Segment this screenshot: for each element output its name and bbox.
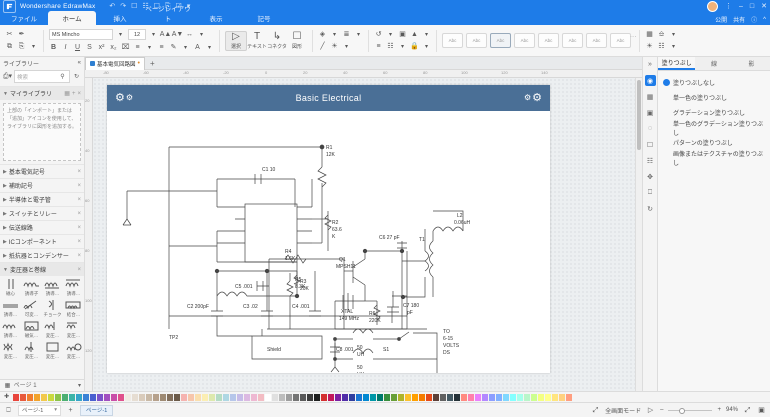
color-swatch[interactable]	[132, 394, 138, 401]
crop2-dropdown-icon[interactable]: ▾	[669, 30, 678, 39]
tool-connector[interactable]: ↳ コネクタ	[267, 32, 287, 50]
clear-format-icon[interactable]: ⌧	[121, 43, 130, 52]
page-icon[interactable]: ☐	[645, 139, 656, 150]
shape-item[interactable]: チョーク	[42, 298, 63, 318]
color-swatch[interactable]	[342, 394, 348, 401]
quick-style-7[interactable]: Abc	[586, 33, 607, 48]
label-t1: T1	[419, 237, 425, 243]
shape-format-group: ◈ ▾ ≣ ▾ ╱ ☀ ▾	[315, 25, 366, 56]
scrollbar-thumb[interactable]	[637, 80, 641, 150]
color-swatch[interactable]	[489, 394, 495, 401]
shape-item[interactable]: 変圧…	[21, 340, 42, 360]
color-swatch[interactable]	[454, 394, 460, 401]
font-color-icon[interactable]: A	[193, 43, 202, 52]
close-icon[interactable]: ×	[77, 169, 81, 175]
tab-file[interactable]: ファイル	[0, 13, 48, 25]
paste-dropdown-icon[interactable]: ▾	[29, 42, 38, 51]
shadow-dropdown-icon[interactable]: ▾	[342, 42, 351, 51]
shape-item[interactable]: 誘導…	[42, 277, 63, 297]
color-swatch[interactable]	[125, 394, 131, 401]
color-swatch[interactable]	[139, 394, 145, 401]
tab-shadow[interactable]: 影	[733, 57, 770, 70]
group-dropdown-icon[interactable]: ▾	[398, 42, 407, 51]
label-r1: R1	[326, 145, 333, 151]
flip-icon[interactable]: ▲	[410, 30, 419, 39]
shape-item[interactable]: 誘導子	[21, 277, 42, 297]
menu-more-icon[interactable]: ⋮	[725, 3, 732, 10]
label-r1-value: 12K	[326, 152, 336, 158]
zoom-slider-knob[interactable]	[679, 408, 685, 414]
color-swatch[interactable]	[475, 394, 481, 401]
color-swatch[interactable]	[188, 394, 194, 401]
label-coil2: 50	[357, 365, 363, 371]
zoom-level-label: 94%	[726, 407, 738, 413]
presentation-icon[interactable]: ⎕	[645, 187, 656, 198]
color-swatch[interactable]	[377, 394, 383, 401]
color-swatch[interactable]	[384, 394, 390, 401]
tab-view[interactable]: 表示	[192, 13, 240, 25]
layout-view-icon[interactable]: ▣	[757, 406, 766, 415]
label-r6: R6	[369, 311, 376, 317]
superscript-icon[interactable]: x²	[97, 43, 106, 52]
italic-icon[interactable]: I	[61, 43, 70, 52]
page-tab[interactable]: ページ-1	[80, 405, 113, 416]
color-swatch[interactable]	[370, 394, 376, 401]
close-icon[interactable]: ×	[77, 91, 81, 97]
page-view-icon[interactable]: ⎕	[4, 406, 13, 415]
color-swatch[interactable]	[34, 394, 40, 401]
fit-page-icon[interactable]: ⤢	[591, 406, 600, 415]
font-size-dropdown-icon[interactable]: ▾	[149, 30, 158, 39]
color-swatch[interactable]	[41, 394, 47, 401]
library-category-my-library[interactable]: ▼ マイライブラリ ▦ + ×	[0, 86, 84, 100]
color-swatch[interactable]	[27, 394, 33, 401]
color-swatch[interactable]	[349, 394, 355, 401]
variable-inductor-icon	[23, 298, 41, 312]
chevron-right-icon: ▶	[3, 183, 7, 189]
tool-select[interactable]: ▷ 選択	[225, 31, 247, 51]
arrange-group: ↺ ▾ ▣ ▲ ▾ ≡ ☷ ▾ 🔒 ▾	[371, 25, 434, 56]
shape-label: 誘導…	[4, 333, 18, 339]
library-category-semiconductor[interactable]: ▶ 半導体と電子管 ×	[0, 192, 84, 206]
shape-item[interactable]: 誘導…	[0, 298, 21, 318]
unsaved-indicator: •	[138, 60, 140, 67]
undo-icon[interactable]: ↶	[109, 3, 115, 10]
tool-text[interactable]: T テキスト	[247, 32, 267, 50]
refresh-icon[interactable]: ↻	[72, 72, 81, 81]
color-swatch[interactable]	[202, 394, 208, 401]
redo-icon[interactable]: ↷	[120, 3, 126, 10]
color-swatch[interactable]	[251, 394, 257, 401]
quick-style-3[interactable]: Abc	[490, 33, 511, 48]
color-swatch[interactable]	[405, 394, 411, 401]
fill-option-image-texture[interactable]: 画像またはテクスチャの塗りつぶし	[661, 150, 767, 165]
shape-label: 変圧…	[67, 354, 81, 360]
color-swatch[interactable]	[153, 394, 159, 401]
lock-icon[interactable]: 🔒	[410, 42, 419, 51]
paste-icon[interactable]: ⎘	[17, 42, 26, 51]
color-swatch[interactable]	[160, 394, 166, 401]
line-style-dropdown-icon[interactable]: ▾	[354, 30, 363, 39]
zoom-slider[interactable]	[668, 410, 712, 411]
color-swatch[interactable]	[13, 394, 19, 401]
fill-option-none[interactable]: 塗りつぶしなし	[661, 75, 767, 90]
color-swatch[interactable]	[90, 394, 96, 401]
tab-line[interactable]: 線	[695, 57, 732, 70]
add-icon[interactable]: +	[72, 91, 76, 97]
tool-text-label: テキスト	[247, 43, 267, 50]
line-style-icon[interactable]: ≣	[342, 30, 351, 39]
color-swatch[interactable]	[230, 394, 236, 401]
crop2-icon[interactable]: ⎒	[657, 30, 666, 39]
highlight-icon[interactable]: ✎	[169, 43, 178, 52]
theme-icon[interactable]: ▦	[645, 30, 654, 39]
inductor3-icon	[65, 277, 83, 291]
color-swatch[interactable]	[391, 394, 397, 401]
diagram-banner[interactable]: ⚙⚙ Basic Electrical ⚙⚙	[107, 85, 550, 111]
color-swatch[interactable]	[293, 394, 299, 401]
library-category-transformer-winding[interactable]: ▼ 変圧器と巻線 ×	[0, 262, 84, 276]
quick-styles-group: Abc Abc Abc Abc Abc Abc Abc Abc ⋮	[439, 25, 637, 56]
category-label: 伝送線路	[9, 223, 33, 232]
grow-font-icon[interactable]: A▲	[161, 30, 170, 39]
category-label: ICコンポーネント	[9, 237, 57, 246]
shape-item[interactable]: 変圧…	[63, 319, 84, 339]
quick-style-2[interactable]: Abc	[466, 33, 487, 48]
color-swatch[interactable]	[482, 394, 488, 401]
label-c4: C4 .001	[292, 304, 310, 310]
label-c8: C8 .001	[336, 347, 354, 353]
fill-option-label: グラデーション塗りつぶし	[673, 108, 745, 117]
import-icon[interactable]: ⎙▾	[3, 72, 12, 81]
transformer3-icon	[2, 340, 20, 354]
color-swatch[interactable]	[174, 394, 180, 401]
quick-style-5[interactable]: Abc	[538, 33, 559, 48]
quick-style-8[interactable]: Abc	[610, 33, 631, 48]
color-swatch[interactable]	[286, 394, 292, 401]
font-color-dropdown-icon[interactable]: ▾	[205, 43, 214, 52]
vertical-ruler[interactable]: 2040 6080 100120	[85, 78, 93, 391]
color-swatch[interactable]	[69, 394, 75, 401]
zoom-in-button[interactable]: +	[717, 407, 721, 413]
color-swatch[interactable]	[272, 394, 278, 401]
grid-view-icon[interactable]: ▦	[64, 90, 70, 97]
library-category-basic-electrical[interactable]: ▶ 基本電気記号 ×	[0, 164, 84, 178]
group-icon[interactable]: ☷	[386, 42, 395, 51]
shuffle-icon[interactable]: ✥	[645, 171, 656, 182]
shape-item[interactable]: 磁気…	[21, 319, 42, 339]
close-icon[interactable]: ×	[77, 197, 81, 203]
collapse-left-icon[interactable]: «	[78, 60, 81, 66]
history-icon[interactable]: ↻	[645, 203, 656, 214]
fill-options-list: 塗りつぶしなし 単一色の塗りつぶし グラデーション塗りつぶし 単一色のグラデーシ…	[658, 71, 770, 169]
add-page-icon[interactable]: +	[66, 406, 75, 415]
color-swatch[interactable]	[496, 394, 502, 401]
library-category-switch-relay[interactable]: ▶ スイッチとリレー ×	[0, 206, 84, 220]
color-swatch[interactable]	[20, 394, 26, 401]
styles-more-icon[interactable]: ⋮	[631, 33, 634, 49]
color-swatch[interactable]	[216, 394, 222, 401]
shape-label: 可変…	[25, 312, 39, 318]
tab-symbols[interactable]: 記号	[240, 13, 288, 25]
align-objects-icon[interactable]: ≡	[374, 42, 383, 51]
fill-option-mono-gradient[interactable]: 単一色のグラデーション塗りつぶし	[661, 120, 767, 135]
char-spacing-icon[interactable]: ↔	[185, 30, 194, 39]
symbols-icon[interactable]: ▦	[645, 91, 656, 102]
present-icon[interactable]: ▷	[646, 406, 655, 415]
footer-more-icon[interactable]: ▾	[78, 382, 81, 389]
color-swatch[interactable]	[566, 394, 572, 401]
color-swatch[interactable]	[356, 394, 362, 401]
color-swatch[interactable]	[111, 394, 117, 401]
color-swatch[interactable]	[237, 394, 243, 401]
choke-icon	[46, 298, 60, 312]
quick-style-6[interactable]: Abc	[562, 33, 583, 48]
color-swatch[interactable]	[223, 394, 229, 401]
color-swatch[interactable]	[279, 394, 285, 401]
fullscreen-mode-label[interactable]: 全画面モード	[605, 406, 641, 415]
color-swatch[interactable]	[258, 394, 264, 401]
pages-icon[interactable]: ▦	[3, 382, 12, 391]
color-swatch[interactable]	[321, 394, 327, 401]
format-painter-icon[interactable]: ✒	[17, 30, 26, 39]
color-swatch[interactable]	[510, 394, 516, 401]
crop-icon[interactable]: ▣	[398, 30, 407, 39]
shape-item[interactable]: 変圧…	[42, 340, 63, 360]
collapse-ribbon-icon[interactable]: ^	[763, 17, 766, 23]
zoom-out-button[interactable]: –	[660, 407, 663, 413]
library-category-ic-component[interactable]: ▶ ICコンポーネント ×	[0, 234, 84, 248]
category-label: 補助記号	[9, 181, 33, 190]
properties-panel: 塗りつぶし 線 影 塗りつぶしなし 単一色の塗りつぶし グラデーション塗りつぶし…	[657, 57, 770, 391]
label-c7: C7 180	[403, 303, 419, 309]
quick-style-4[interactable]: Abc	[514, 33, 535, 48]
shape-item[interactable]: 変圧…	[63, 340, 84, 360]
canvas-scrollbar[interactable]	[635, 78, 642, 391]
horizontal-ruler[interactable]: -80-60 -40-20 020 4060 80100 120140	[85, 70, 642, 78]
circuit-schematic[interactable]: C1 10 R1 12K R2 63.6 K R3 20K C2 200pF C…	[107, 111, 550, 373]
connector-tool-icon: ↳	[273, 32, 281, 42]
shape-item[interactable]: 誘導…	[0, 319, 21, 339]
library-category-transmission[interactable]: ▶ 伝送線路 ×	[0, 220, 84, 234]
color-swatch[interactable]	[146, 394, 152, 401]
label-ds: DS	[443, 350, 451, 356]
expand-panel-icon[interactable]: »	[645, 59, 656, 70]
color-swatch[interactable]	[531, 394, 537, 401]
color-swatch[interactable]	[426, 394, 432, 401]
color-swatch[interactable]	[265, 394, 271, 401]
color-palette: ✚	[0, 391, 770, 402]
help-icon[interactable]: ⓘ	[751, 15, 757, 24]
transformer-icon	[44, 319, 62, 333]
shape-item[interactable]: 結合…	[63, 298, 84, 318]
color-swatch[interactable]	[244, 394, 250, 401]
shape-item[interactable]: 磁心	[0, 277, 21, 297]
fill-option-label: 単一色のグラデーション塗りつぶし	[673, 119, 767, 137]
color-swatch[interactable]	[447, 394, 453, 401]
search-icon[interactable]: ⚲	[58, 72, 67, 81]
layout-dropdown-icon[interactable]: ▾	[669, 42, 678, 51]
layers-icon[interactable]: ☷	[645, 155, 656, 166]
color-swatch[interactable]	[524, 394, 530, 401]
color-swatch[interactable]	[118, 394, 124, 401]
underline-icon[interactable]: U	[73, 43, 82, 52]
menu-tab-bar: ファイル ホーム 挿入 ページレイアウト 表示 記号 公開 共有 ⓘ ^	[0, 13, 770, 25]
divider	[312, 30, 313, 52]
layout-icon[interactable]: ☷	[657, 42, 666, 51]
color-swatch[interactable]	[83, 394, 89, 401]
tab-page-layout[interactable]: ページレイアウト	[144, 3, 192, 25]
main-area: ライブラリー « ⎙▾ 検索 ⚲ ↻ ▼ マイライブラリ ▦ + × 上部の「イ…	[0, 57, 770, 391]
bullet-dropdown-icon[interactable]: ▾	[145, 43, 154, 52]
lock-dropdown-icon[interactable]: ▾	[422, 42, 431, 51]
color-swatch[interactable]	[545, 394, 551, 401]
color-swatch[interactable]	[468, 394, 474, 401]
color-swatch[interactable]	[552, 394, 558, 401]
color-swatch[interactable]	[398, 394, 404, 401]
new-icon[interactable]: ☐	[131, 3, 137, 10]
bullet-list-icon[interactable]: ≡	[133, 43, 142, 52]
label-r4: R4	[285, 249, 292, 255]
tab-fill[interactable]: 塗りつぶし	[658, 57, 695, 70]
fill-dropdown-icon[interactable]: ▾	[330, 30, 339, 39]
library-search-row: ⎙▾ 検索 ⚲ ↻	[3, 70, 81, 83]
publish-button[interactable]: 公開	[715, 15, 727, 24]
fill-option-label: 単一色の塗りつぶし	[673, 93, 727, 102]
quick-style-1[interactable]: Abc	[442, 33, 463, 48]
close-icon[interactable]: ×	[77, 211, 81, 217]
inductor-icon	[23, 277, 41, 291]
color-swatch[interactable]	[209, 394, 215, 401]
theme-icon[interactable]: ◌	[645, 123, 656, 134]
bold-icon[interactable]: B	[49, 43, 58, 52]
tab-home[interactable]: ホーム	[48, 11, 96, 25]
shape-item[interactable]: 変圧…	[42, 319, 63, 339]
color-swatch[interactable]	[62, 394, 68, 401]
color-swatch[interactable]	[76, 394, 82, 401]
color-swatch[interactable]	[433, 394, 439, 401]
frame-icon[interactable]: ▣	[645, 107, 656, 118]
maximize-button[interactable]: □	[750, 3, 754, 10]
color-swatch[interactable]	[412, 394, 418, 401]
color-swatch[interactable]	[314, 394, 320, 401]
rotate-icon[interactable]: ↺	[374, 30, 383, 39]
color-swatch[interactable]	[328, 394, 334, 401]
font-name-input[interactable]: MS Mincho	[49, 29, 113, 40]
font-name-dropdown-icon[interactable]: ▾	[116, 30, 125, 39]
search-input[interactable]: 検索 ⚲	[14, 70, 70, 83]
color-swatch[interactable]	[48, 394, 54, 401]
font-size-input[interactable]: 12	[128, 29, 146, 40]
user-avatar-icon[interactable]	[707, 1, 718, 12]
eyedropper-icon[interactable]: ✚	[2, 393, 11, 402]
minimize-button[interactable]: –	[739, 3, 743, 10]
color-swatch[interactable]	[517, 394, 523, 401]
flip-dropdown-icon[interactable]: ▾	[422, 30, 431, 39]
library-category-auxiliary[interactable]: ▶ 補助記号 ×	[0, 178, 84, 192]
fill-icon[interactable]: ◉	[645, 75, 656, 86]
color-swatch[interactable]	[55, 394, 61, 401]
color-swatch[interactable]	[104, 394, 110, 401]
share-button[interactable]: 共有	[733, 15, 745, 24]
shape-item[interactable]: 可変…	[21, 298, 42, 318]
close-icon[interactable]: ×	[77, 225, 81, 231]
rotate-dropdown-icon[interactable]: ▾	[386, 30, 395, 39]
page-selector[interactable]: ページ-1 ▾	[18, 405, 61, 416]
add-document-tab-icon[interactable]: +	[150, 59, 155, 68]
color-swatch[interactable]	[335, 394, 341, 401]
color-swatch[interactable]	[503, 394, 509, 401]
label-q1-part: MPSH11	[336, 264, 356, 270]
shape-item[interactable]: 変圧…	[0, 340, 21, 360]
label-c7-unit: pF	[407, 310, 413, 316]
highlight-dropdown-icon[interactable]: ▾	[181, 43, 190, 52]
close-icon[interactable]: ×	[77, 183, 81, 189]
color-swatch[interactable]	[195, 394, 201, 401]
color-swatch[interactable]	[307, 394, 313, 401]
label-to: TO	[443, 329, 450, 335]
fill-color-icon[interactable]: ◈	[318, 30, 327, 39]
reset-zoom-icon[interactable]: ⤢	[743, 406, 752, 415]
document-tab[interactable]: 基本電気回路図 •	[85, 57, 145, 70]
close-icon[interactable]: ×	[77, 253, 81, 259]
color-swatch[interactable]	[461, 394, 467, 401]
library-category-resistor-capacitor[interactable]: ▶ 抵抗器とコンデンサー ×	[0, 248, 84, 262]
shrink-font-icon[interactable]: A▼	[173, 30, 182, 39]
color-swatch[interactable]	[363, 394, 369, 401]
close-icon[interactable]: ×	[77, 239, 81, 245]
char-spacing-dropdown-icon[interactable]: ▾	[197, 30, 206, 39]
color-swatch[interactable]	[538, 394, 544, 401]
shape-item[interactable]: 誘導…	[63, 277, 84, 297]
close-icon[interactable]: ×	[77, 267, 81, 273]
divider	[436, 30, 437, 52]
color-swatch[interactable]	[559, 394, 565, 401]
align-icon[interactable]: ≡	[157, 43, 166, 52]
ribbon-toolbar: ✂ ✒ ⧉ ⎘ ▾ MS Mincho ▾ 12 ▾ A▲ A▼	[0, 25, 770, 57]
fill-option-solid[interactable]: 単一色の塗りつぶし	[661, 90, 767, 105]
strikethrough-icon[interactable]: S	[85, 43, 94, 52]
copy-icon[interactable]: ⧉	[5, 42, 14, 51]
cut-icon[interactable]: ✂	[5, 30, 14, 39]
color-swatch[interactable]	[300, 394, 306, 401]
my-library-label: マイライブラリ	[10, 89, 52, 98]
diagram-page[interactable]: ⚙⚙ Basic Electrical ⚙⚙	[107, 85, 550, 373]
color-swatch[interactable]	[181, 394, 187, 401]
line-weight-icon[interactable]: ╱	[318, 42, 327, 51]
chevron-down-icon: ▼	[3, 91, 8, 97]
shadow-icon[interactable]: ☀	[330, 42, 339, 51]
drawing-canvas[interactable]: ⚙⚙ Basic Electrical ⚙⚙	[93, 78, 642, 391]
color-swatch[interactable]	[419, 394, 425, 401]
color-swatch[interactable]	[440, 394, 446, 401]
close-button[interactable]: ✕	[761, 3, 767, 10]
pointer-icon: ▷	[232, 32, 240, 42]
transformer6-icon	[65, 340, 83, 354]
color-swatch[interactable]	[167, 394, 173, 401]
fill-bucket-icon[interactable]: ☀	[645, 42, 654, 51]
color-swatch[interactable]	[97, 394, 103, 401]
tab-insert[interactable]: 挿入	[96, 13, 144, 25]
label-tp2: TP2	[169, 335, 178, 341]
document-tab-label: 基本電気回路図	[97, 60, 136, 68]
diagram-title: Basic Electrical	[296, 93, 362, 103]
subscript-icon[interactable]: x₂	[109, 43, 118, 52]
divider	[43, 30, 44, 52]
gear-icon: ⚙⚙	[115, 93, 133, 104]
inductor2-icon	[44, 277, 62, 291]
tool-shape[interactable]: ☐ 図形	[287, 32, 307, 50]
